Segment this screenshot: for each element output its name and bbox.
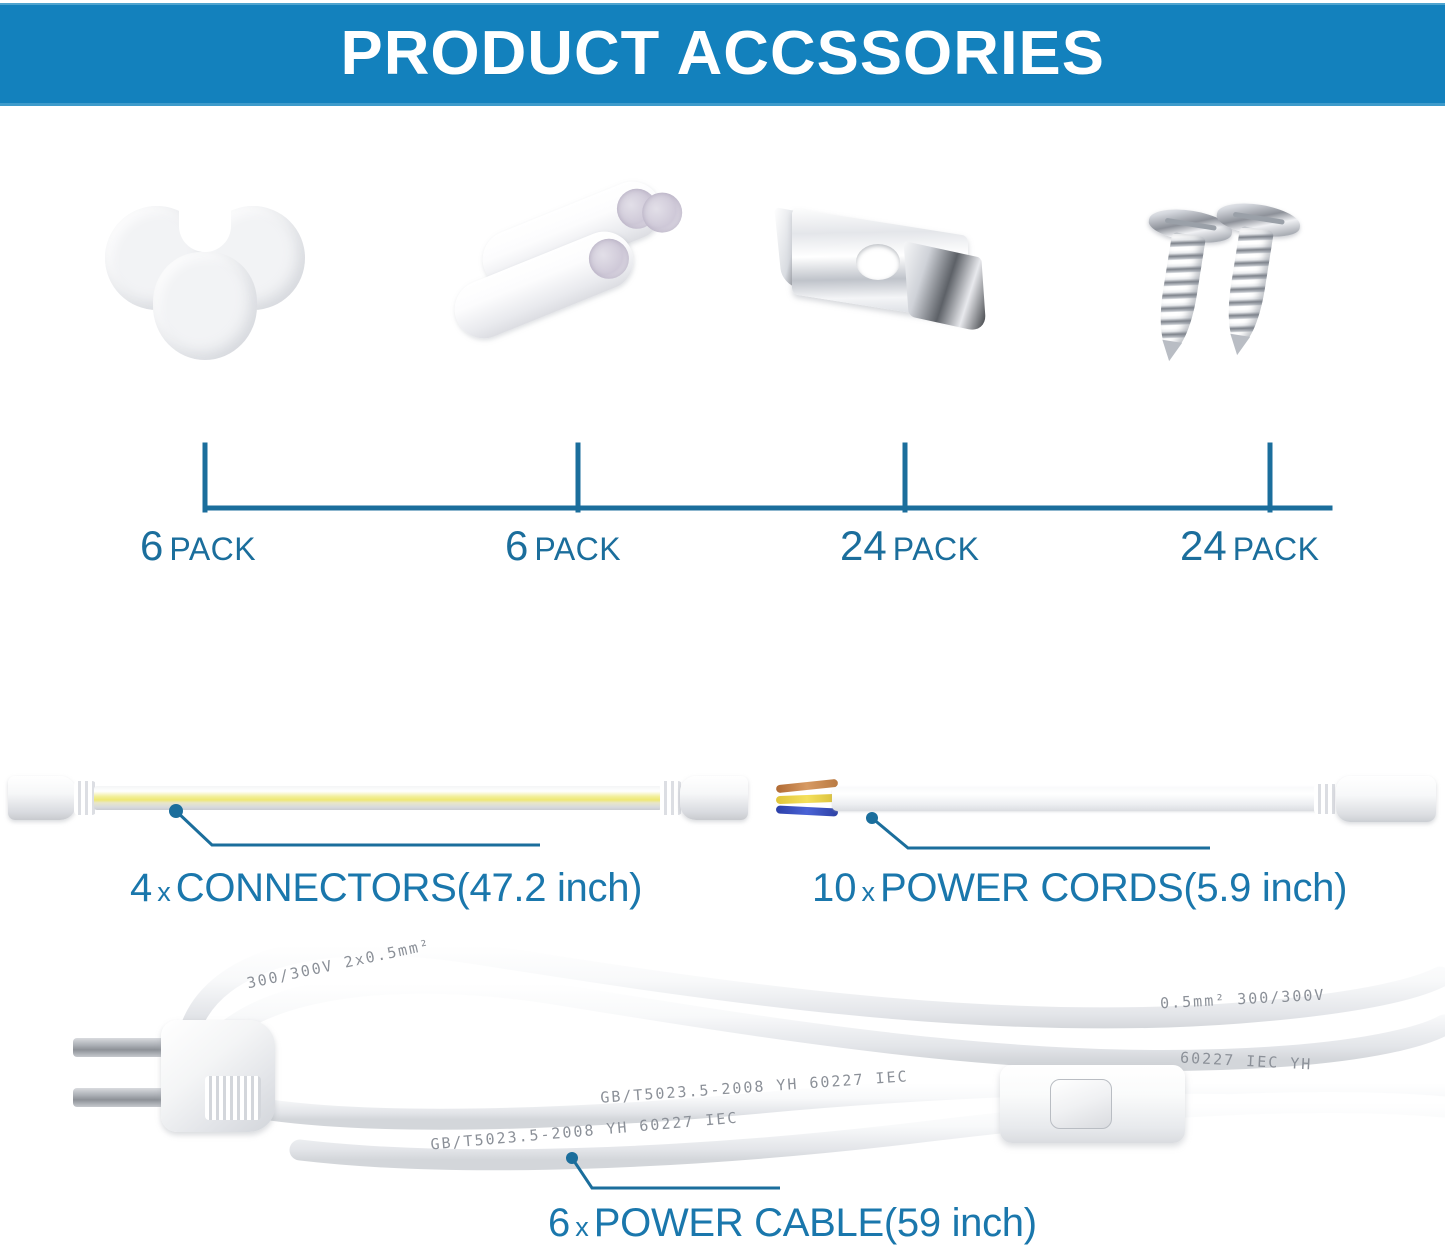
power-cable-text: POWER CABLE(59 inch): [594, 1201, 1037, 1245]
wire-brown: [776, 779, 838, 793]
lobe-bottom: [153, 252, 257, 360]
tube-connector-pair-icon: [442, 200, 672, 370]
part-end-cap: [105, 200, 305, 450]
plug-prong-bottom: [73, 1088, 165, 1107]
product-accessories-page: PRODUCT ACCSSORIES: [0, 0, 1445, 1259]
pack-unit: PACK: [534, 531, 621, 567]
pack-label-mounting-clip: 24PACK: [840, 525, 979, 567]
part-mounting-clip: [778, 200, 993, 450]
screw-shaft: [1222, 226, 1274, 348]
screw-tip: [1159, 340, 1182, 363]
metal-mounting-clip-icon: [778, 200, 993, 360]
connector-leader-dot: [169, 804, 183, 818]
multiply-symbol: x: [575, 1212, 589, 1242]
connector-leader-line: [0, 795, 760, 865]
screw-pair-icon: [1140, 200, 1340, 370]
screw-left: [1146, 207, 1215, 364]
pack-quantity: 24: [840, 522, 887, 569]
pack-unit: PACK: [1233, 531, 1320, 567]
us-wall-plug: [125, 1020, 275, 1132]
parts-row: [0, 200, 1445, 460]
power-cord-leader-line: [760, 800, 1445, 870]
power-cords-text: POWER CORDS(5.9 inch): [880, 866, 1347, 910]
multiply-symbol: x: [862, 877, 876, 907]
pack-quantity: 24: [1180, 522, 1227, 569]
connectors-qty: 4: [130, 866, 152, 910]
pack-label-end-cap: 6PACK: [140, 525, 256, 567]
center-notch: [179, 196, 231, 252]
caption-connectors: 4xCONNECTORS(47.2 inch): [130, 868, 642, 908]
pack-unit: PACK: [893, 531, 980, 567]
part-tube-connector: [442, 200, 672, 450]
caption-power-cable: 6xPOWER CABLE(59 inch): [548, 1203, 1037, 1243]
pack-bracket: [0, 440, 1445, 530]
page-title: PRODUCT ACCSSORIES: [340, 23, 1104, 85]
power-cords-qty: 10: [812, 866, 857, 910]
pack-label-screws: 24PACK: [1180, 525, 1319, 567]
screw-right: [1214, 201, 1283, 358]
pack-unit: PACK: [169, 531, 256, 567]
pack-quantity: 6: [140, 522, 163, 569]
power-cable-leader-line: [480, 1140, 800, 1210]
plug-prong-top: [73, 1038, 165, 1057]
screw-shaft: [1154, 232, 1206, 354]
connectors-text: CONNECTORS(47.2 inch): [176, 866, 642, 910]
power-cord-leader-dot: [866, 812, 878, 824]
plug-grip-ridges: [205, 1076, 261, 1120]
trefoil-end-cap-icon: [105, 200, 305, 360]
caption-power-cords: 10xPOWER CORDS(5.9 inch): [812, 868, 1347, 908]
power-cable-qty: 6: [548, 1201, 570, 1245]
clip-screw-hole: [856, 244, 900, 280]
inline-rocker-switch[interactable]: [1000, 1065, 1185, 1143]
pack-quantity: 6: [505, 522, 528, 569]
clip-wing-right: [904, 241, 987, 333]
part-screws: [1140, 200, 1340, 450]
rocker-button[interactable]: [1050, 1079, 1112, 1129]
power-cable-leader-dot: [566, 1152, 578, 1164]
screw-tip: [1227, 334, 1250, 357]
pack-label-tube-connector: 6PACK: [505, 525, 621, 567]
multiply-symbol: x: [157, 877, 171, 907]
page-header: PRODUCT ACCSSORIES: [0, 3, 1445, 106]
